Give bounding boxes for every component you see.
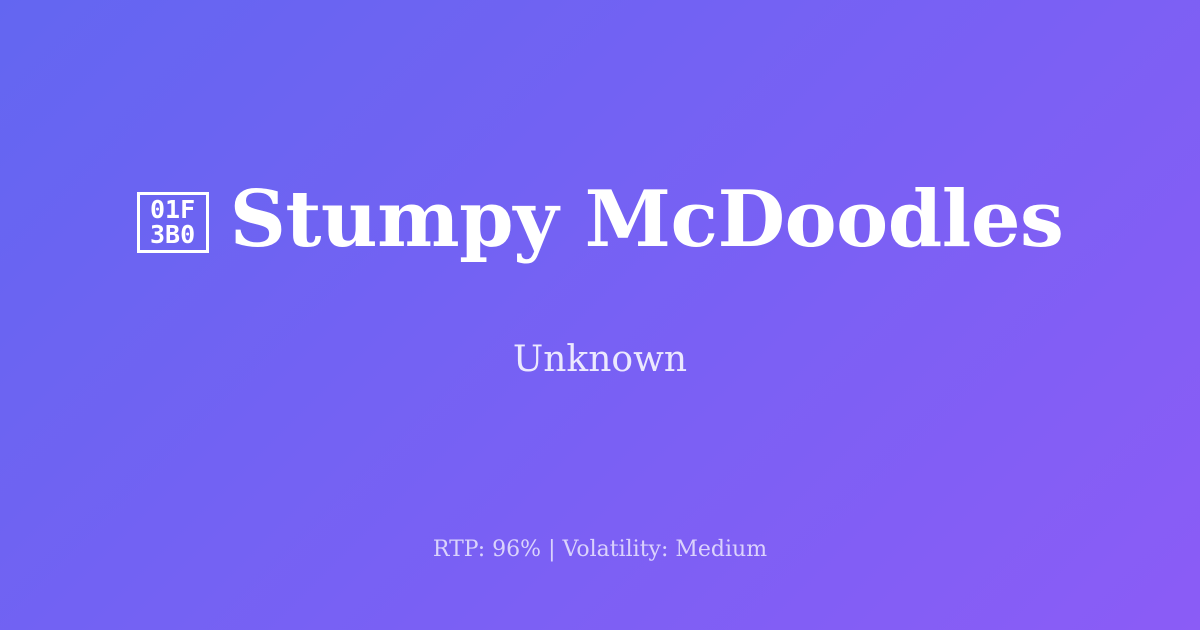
- slot-machine-emoji-icon: 01F 3B0: [137, 192, 209, 253]
- game-title: Stumpy McDoodles: [230, 174, 1064, 266]
- card-footer: RTP: 96% | Volatility: Medium: [0, 536, 1200, 564]
- emoji-codepoint-bottom: 3B0: [150, 222, 195, 247]
- game-stats-line: RTP: 96% | Volatility: Medium: [433, 536, 767, 564]
- title-row: 01F 3B0 Stumpy McDoodles: [137, 174, 1064, 266]
- og-share-card: 01F 3B0 Stumpy McDoodles Unknown RTP: 96…: [0, 0, 1200, 630]
- game-provider-subtitle: Unknown: [513, 338, 687, 382]
- emoji-codepoint-top: 01F: [150, 197, 195, 222]
